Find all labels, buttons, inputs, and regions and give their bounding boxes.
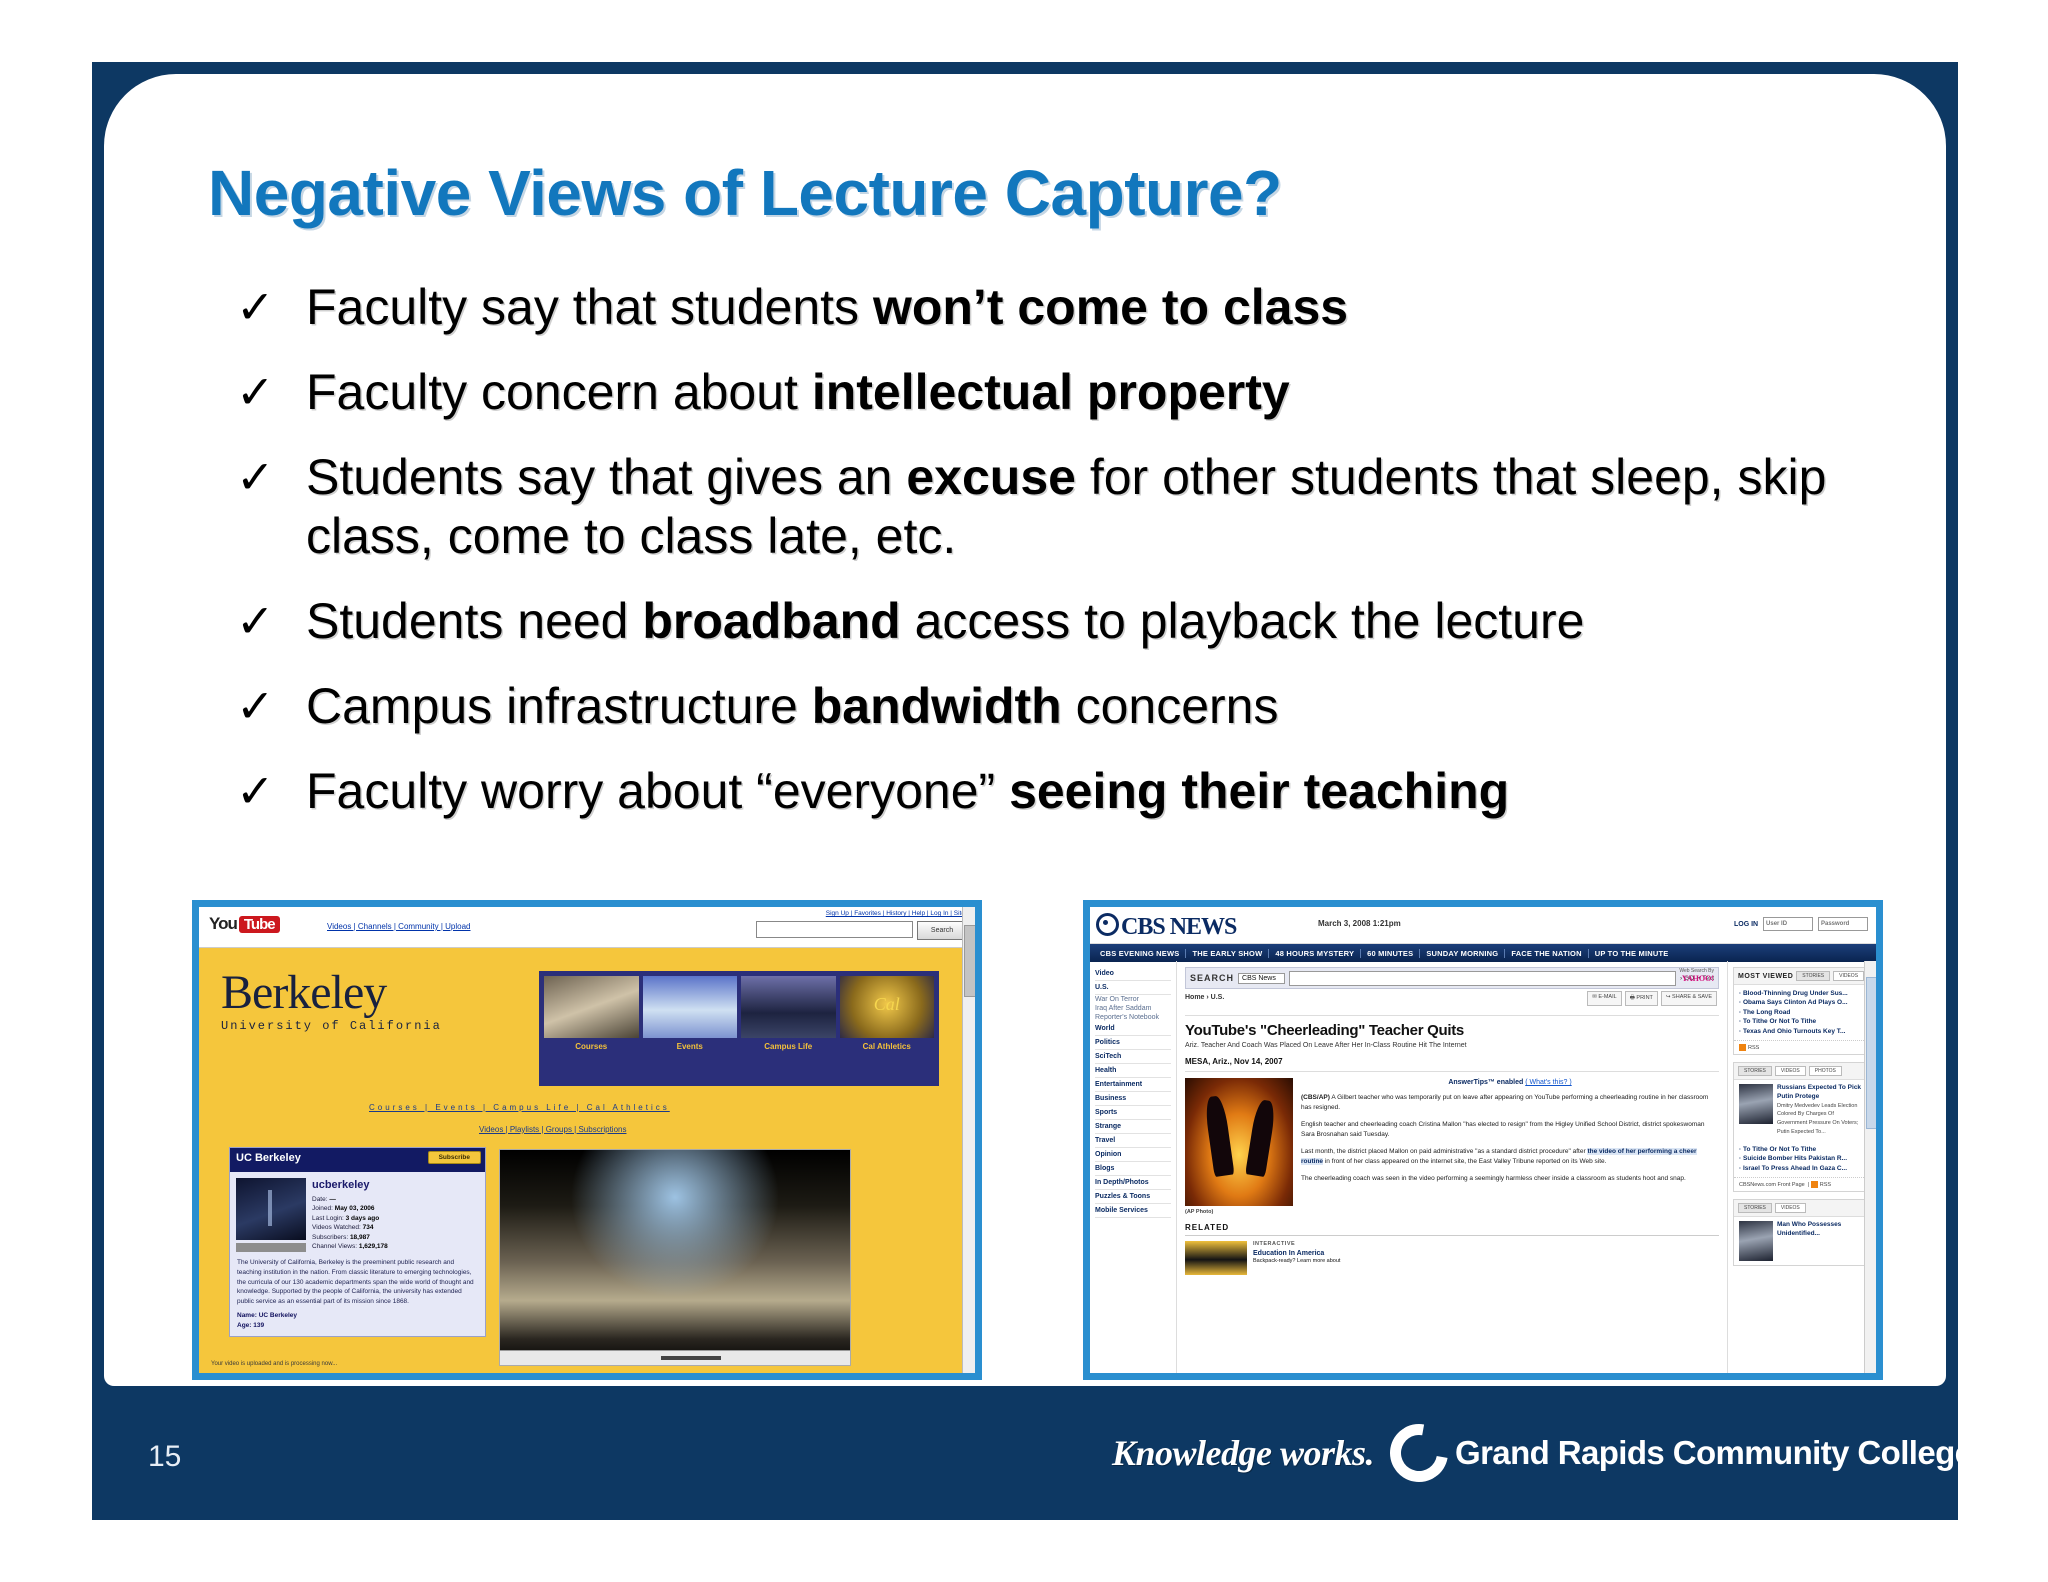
top-stories-list[interactable]: To Tithe Or Not To TitheSuicide Bomber H… (1734, 1141, 1870, 1177)
tile-campus-life-label: Campus Life (741, 1042, 836, 1051)
youtube-screenshot[interactable]: YouTube Videos | Channels | Community | … (192, 900, 982, 1380)
page-number: 15 (148, 1440, 181, 1474)
footer-institution: Grand Rapids Community College (1455, 1434, 1972, 1472)
berkeley-category-tiles: Courses Events Campus Life Cal Athletics (539, 971, 939, 1086)
cbs-sidebar[interactable]: VideoU.S.War On TerrorIraq After SaddamR… (1090, 961, 1176, 1373)
cbs-nav-item-6[interactable]: FACE THE NATION (1505, 949, 1588, 958)
front-page-link[interactable]: CBSNews.com Front Page (1739, 1182, 1805, 1188)
uc-stat-value: 18,987 (350, 1234, 370, 1241)
cbs-program-nav[interactable]: CBS EVENING NEWSTHE EARLY SHOW48 HOURS M… (1090, 944, 1876, 962)
related-thumbnail (1185, 1241, 1247, 1275)
youtube-search-input[interactable] (756, 921, 913, 938)
related-kicker: INTERACTIVE (1253, 1241, 1295, 1247)
berkeley-subtitle: University of California (221, 1019, 521, 1033)
bottom-story-text: Man Who Possesses Unidentified... (1777, 1221, 1865, 1261)
uc-channel-title: UC Berkeley (236, 1152, 301, 1164)
youtube-logo[interactable]: YouTube (209, 914, 280, 934)
youtube-nav-links[interactable]: Videos | Channels | Community | Upload (327, 922, 471, 931)
answertips-banner[interactable]: AnswerTips™ enabled ( What's this? ) (1301, 1078, 1719, 1089)
cbs-page: CBS NEWS March 3, 2008 1:21pm LOG IN Use… (1090, 907, 1876, 1373)
bullet-item-2: ✓Faculty concern about intellectual prop… (228, 363, 1928, 422)
cbs-sidebar-item-16[interactable]: Blogs (1095, 1162, 1171, 1176)
rss-icon-2 (1811, 1181, 1818, 1188)
bottom-tab-stories[interactable]: STORIES (1738, 1203, 1772, 1213)
most-viewed-module: MOST VIEWED STORIES VIDEOS Blood-Thinnin… (1733, 967, 1871, 1055)
cbs-search-powered-by: Web Search By YAHOO! (1679, 969, 1714, 983)
top-stories-lead-text: Russians Expected To Pick Putin Protege … (1777, 1084, 1865, 1137)
youtube-video-player[interactable] (499, 1149, 851, 1366)
cbs-sidebar-item-11[interactable]: Business (1095, 1092, 1171, 1106)
uc-channel-description: The University of California, Berkeley i… (230, 1258, 485, 1311)
cbs-sidebar-item-2[interactable]: U.S. (1095, 981, 1171, 995)
uc-channel-stats: ucberkeley Date: —Joined: May 03, 2006La… (312, 1178, 388, 1252)
most-viewed-item-5[interactable]: Texas And Ohio Turnouts Key T... (1739, 1027, 1865, 1036)
cbs-sidebar-item-5[interactable]: Reporter's Notebook (1095, 1013, 1171, 1022)
cbs-nav-item-1[interactable]: CBS EVENING NEWS (1094, 949, 1186, 958)
tile-cal-athletics[interactable]: Cal Athletics (840, 976, 935, 1081)
youtube-scrollbar-thumb[interactable] (964, 925, 975, 997)
most-viewed-item-4[interactable]: To Tithe Or Not To Tithe (1739, 1017, 1865, 1026)
cbs-sidebar-item-3[interactable]: War On Terror (1095, 995, 1171, 1004)
uc-stat-value: 734 (363, 1224, 374, 1231)
cbs-login-label: LOG IN (1734, 921, 1758, 928)
cbs-article-paragraph-1: (CBS/AP) A Gilbert teacher who was tempo… (1301, 1093, 1719, 1113)
top-stories-module: STORIES VIDEOS PHOTOS Russians Expected … (1733, 1062, 1871, 1192)
cbs-tool-1[interactable]: ✉ E-MAIL (1587, 991, 1621, 1006)
cbs-datetime: March 3, 2008 1:21pm (1318, 919, 1401, 928)
bullet-item-6: ✓Faculty worry about “everyone” seeing t… (228, 762, 1928, 821)
cbs-sidebar-item-4[interactable]: Iraq After Saddam (1095, 1004, 1171, 1013)
footer-tagline: Knowledge works. (1112, 1432, 1374, 1474)
youtube-account-links[interactable]: Sign Up | Favorites | History | Help | L… (826, 910, 965, 917)
top-stories-footer[interactable]: CBSNews.com Front Page | RSS (1734, 1177, 1870, 1191)
uc-stat-value: May 03, 2006 (335, 1205, 375, 1212)
cheerleader-photo (1185, 1078, 1293, 1206)
putin-photo (1739, 1084, 1773, 1124)
uc-avatar (236, 1178, 306, 1240)
most-viewed-list[interactable]: Blood-Thinning Drug Under Sus...Obama Sa… (1734, 985, 1870, 1040)
youtube-logo-you: You (209, 914, 237, 933)
cbs-userid-field[interactable]: User ID (1763, 917, 1813, 931)
youtube-scrollbar[interactable] (962, 907, 975, 1373)
berkeley-channel-tabs[interactable]: Videos | Playlists | Groups | Subscripti… (479, 1125, 626, 1134)
cbs-article-headline: YouTube's "Cheerleading" Teacher Quits (1185, 1022, 1719, 1039)
check-icon: ✓ (236, 365, 275, 419)
uc-rating-bar (236, 1243, 306, 1252)
most-viewed-tab-videos[interactable]: VIDEOS (1833, 971, 1864, 981)
cbs-photo-credit: (AP Photo) (1185, 1209, 1293, 1215)
uc-stat-row-6: Channel Views: 1,629,178 (312, 1242, 388, 1251)
cbs-share-tools[interactable]: ✉ E-MAIL🖶 PRINT↪ SHARE & SAVE (1587, 991, 1717, 1006)
top-stories-lead-headline[interactable]: Russians Expected To Pick Putin Protege (1777, 1084, 1865, 1102)
cbs-logo-text: CBS NEWS (1121, 914, 1236, 940)
cbs-sidebar-item-8[interactable]: SciTech (1095, 1050, 1171, 1064)
page-title: Negative Views of Lecture Capture? (208, 156, 1808, 230)
cbs-login-area[interactable]: LOG IN User ID Password (1734, 917, 1868, 931)
uc-channel-body: ucberkeley Date: —Joined: May 03, 2006La… (230, 1172, 485, 1258)
top-stories-tab-stories[interactable]: STORIES (1738, 1066, 1772, 1076)
rss-icon (1739, 1044, 1746, 1051)
cbs-sidebar-item-6[interactable]: World (1095, 1022, 1171, 1036)
bottom-module-story[interactable]: Man Who Possesses Unidentified... (1734, 1217, 1870, 1265)
cbs-related-heading: RELATED (1185, 1223, 1719, 1236)
cbs-sidebar-item-12[interactable]: Sports (1095, 1106, 1171, 1120)
tile-courses[interactable]: Courses (544, 976, 639, 1081)
bottom-story-photo (1739, 1221, 1773, 1261)
tile-events-label: Events (643, 1042, 738, 1051)
cbs-logo[interactable]: CBS NEWS (1096, 911, 1236, 941)
berkeley-brand: Berkeley University of California (221, 969, 521, 1033)
bottom-module: STORIES VIDEOS Man Who Possesses Unident… (1733, 1199, 1871, 1266)
cbs-scrollbar-thumb[interactable] (1866, 977, 1876, 1129)
youtube-search-button[interactable]: Search (917, 921, 967, 940)
uc-channel-meta: Name: UC Berkeley Age: 139 (230, 1311, 485, 1337)
bullet-item-3: ✓Students say that gives an excuse for o… (228, 448, 1928, 566)
tile-cal-athletics-label: Cal Athletics (840, 1042, 935, 1051)
youtube-status-ticker: Your video is uploaded and is processing… (211, 1361, 337, 1367)
tile-courses-image (544, 976, 639, 1038)
cbs-nav-item-2[interactable]: THE EARLY SHOW (1186, 949, 1269, 958)
cbs-nav-item-3[interactable]: 48 HOURS MYSTERY (1269, 949, 1361, 958)
uc-meta-age-label: Age: (237, 1322, 251, 1329)
cbs-sidebar-item-7[interactable]: Politics (1095, 1036, 1171, 1050)
most-viewed-title: MOST VIEWED (1738, 973, 1793, 980)
cbs-sidebar-item-1[interactable]: Video (1095, 967, 1171, 981)
cbs-password-field[interactable]: Password (1818, 917, 1868, 931)
top-stories-lead[interactable]: Russians Expected To Pick Putin Protege … (1734, 1080, 1870, 1141)
most-viewed-item-3[interactable]: The Long Road (1739, 1008, 1865, 1017)
bullet-item-5: ✓Campus infrastructure bandwidth concern… (228, 677, 1928, 736)
uc-stat-value: — (329, 1196, 336, 1203)
cbs-article-text: AnswerTips™ enabled ( What's this? ) (CB… (1301, 1078, 1719, 1215)
cbs-right-rail: MOST VIEWED STORIES VIDEOS Blood-Thinnin… (1728, 961, 1876, 1373)
uc-berkeley-channel-panel: UC Berkeley Subscribe ucberkeley Date: —… (229, 1147, 486, 1337)
most-viewed-item-2[interactable]: Obama Says Clinton Ad Plays O... (1739, 998, 1865, 1007)
tile-cal-athletics-image (840, 976, 935, 1038)
cbs-scrollbar[interactable] (1864, 961, 1876, 1373)
berkeley-subnav[interactable]: Courses | Events | Campus Life | Cal Ath… (369, 1103, 670, 1112)
cbs-article-photo-block: (AP Photo) (1185, 1078, 1293, 1215)
most-viewed-rss[interactable]: RSS (1734, 1040, 1870, 1054)
uc-stat-label: Date: (312, 1196, 328, 1203)
slide-root: Negative Views of Lecture Capture? ✓Facu… (0, 0, 2048, 1582)
bullet-item-1: ✓Faculty say that students won’t come to… (228, 278, 1928, 337)
cbs-article-paragraph-2: English teacher and cheerleading coach C… (1301, 1120, 1719, 1140)
top-stories-rss-label: RSS (1820, 1182, 1831, 1188)
cbs-sidebar-item-15[interactable]: Opinion (1095, 1148, 1171, 1162)
check-icon: ✓ (236, 450, 275, 504)
check-icon: ✓ (236, 764, 275, 818)
most-viewed-header: MOST VIEWED STORIES VIDEOS (1734, 968, 1870, 985)
cbs-article-paragraph-4: The cheerleading coach was seen in the v… (1301, 1174, 1719, 1184)
berkeley-wordmark: Berkeley (221, 969, 521, 1017)
uc-stat-row-1: Date: — (312, 1195, 388, 1204)
cbs-article-paragraph-3: Last month, the district placed Mallon o… (1301, 1147, 1719, 1167)
cbs-header: CBS NEWS March 3, 2008 1:21pm LOG IN Use… (1090, 907, 1876, 944)
cbs-search-input[interactable] (1289, 971, 1676, 986)
cbs-main-column: SEARCH CBS News › GO • Text Web Search B… (1176, 961, 1728, 1373)
uc-stat-row-2: Joined: May 03, 2006 (312, 1204, 388, 1213)
uc-stat-label: Channel Views: (312, 1243, 357, 1250)
top-stories-item-1[interactable]: To Tithe Or Not To Tithe (1739, 1145, 1865, 1154)
check-icon: ✓ (236, 594, 275, 648)
youtube-page: YouTube Videos | Channels | Community | … (199, 907, 975, 1373)
most-viewed-tab-stories[interactable]: STORIES (1796, 971, 1830, 981)
cbs-search-bar[interactable]: SEARCH CBS News › GO • Text Web Search B… (1185, 967, 1719, 989)
uc-stat-label: Videos Watched: (312, 1224, 361, 1231)
cbs-divider (1185, 1015, 1719, 1016)
uc-meta-age-value: 139 (253, 1322, 264, 1329)
top-stories-tab-videos[interactable]: VIDEOS (1775, 1066, 1806, 1076)
cbs-eye-icon (1096, 913, 1119, 936)
tile-campus-life-image (741, 976, 836, 1038)
uc-stat-label: Joined: (312, 1205, 333, 1212)
uc-username: ucberkeley (312, 1178, 388, 1194)
related-text: INTERACTIVE Education In America Backpac… (1253, 1241, 1340, 1275)
cbs-sidebar-item-18[interactable]: Puzzles & Toons (1095, 1190, 1171, 1204)
subscribe-button[interactable]: Subscribe (428, 1151, 481, 1164)
cbs-nav-item-7[interactable]: UP TO THE MINUTE (1589, 949, 1675, 958)
youtube-logo-tube: Tube (239, 916, 280, 933)
cbs-related-item[interactable]: INTERACTIVE Education In America Backpac… (1185, 1241, 1719, 1275)
cbs-tool-2[interactable]: 🖶 PRINT (1625, 991, 1658, 1006)
cbs-article-block: (AP Photo) AnswerTips™ enabled ( What's … (1185, 1078, 1719, 1215)
top-stories-item-2[interactable]: Suicide Bomber Hits Pakistan R... (1739, 1154, 1865, 1163)
uc-stat-row-3: Last Login: 3 days ago (312, 1214, 388, 1223)
cbs-sidebar-item-19[interactable]: Mobile Services (1095, 1204, 1171, 1218)
uc-avatar-block (236, 1178, 306, 1252)
top-stories-item-3[interactable]: Israel To Press Ahead In Gaza C... (1739, 1164, 1865, 1173)
uc-channel-header: UC Berkeley Subscribe (230, 1148, 485, 1172)
top-stories-header: STORIES VIDEOS PHOTOS (1734, 1063, 1870, 1080)
cbs-body: VideoU.S.War On TerrorIraq After SaddamR… (1090, 961, 1876, 1373)
check-icon: ✓ (236, 280, 275, 334)
cbs-news-screenshot[interactable]: CBS NEWS March 3, 2008 1:21pm LOG IN Use… (1083, 900, 1883, 1380)
cbs-nav-item-5[interactable]: SUNDAY MORNING (1420, 949, 1505, 958)
cbs-search-scope-select[interactable]: CBS News (1238, 973, 1285, 984)
video-frame (500, 1150, 850, 1365)
cbs-search-label: SEARCH (1190, 973, 1234, 983)
most-viewed-item-1[interactable]: Blood-Thinning Drug Under Sus... (1739, 989, 1865, 998)
uc-stat-value: 1,629,178 (359, 1243, 388, 1250)
youtube-header: YouTube Videos | Channels | Community | … (199, 907, 975, 948)
yahoo-logo: YAHOO! (1679, 975, 1714, 984)
bottom-tab-videos[interactable]: VIDEOS (1775, 1203, 1806, 1213)
video-controls-bar[interactable] (500, 1350, 850, 1365)
cbs-article-subhead: Ariz. Teacher And Coach Was Placed On Le… (1185, 1042, 1719, 1049)
uc-stat-label: Last Login: (312, 1215, 344, 1222)
top-stories-lead-desc: Dmitry Medvedev Leads Election Colored B… (1777, 1103, 1858, 1135)
answertips-label: AnswerTips™ enabled (1448, 1079, 1523, 1086)
top-stories-tab-photos[interactable]: PHOTOS (1809, 1066, 1842, 1076)
uc-stat-label: Subscribers: (312, 1234, 348, 1241)
uc-stat-row-4: Videos Watched: 734 (312, 1223, 388, 1232)
cbs-article-dateline: MESA, Ariz., Nov 14, 2007 (1185, 1057, 1719, 1072)
uc-meta-name-value: UC Berkeley (259, 1312, 297, 1319)
bullet-item-4: ✓Students need broadband access to playb… (228, 592, 1928, 651)
tile-courses-label: Courses (544, 1042, 639, 1051)
cbs-sidebar-item-10[interactable]: Entertainment (1095, 1078, 1171, 1092)
check-icon: ✓ (236, 679, 275, 733)
related-description: Backpack-ready? Learn more about (1253, 1258, 1340, 1264)
uc-stat-row-5: Subscribers: 18,987 (312, 1233, 388, 1242)
most-viewed-rss-label: RSS (1748, 1045, 1759, 1051)
answertips-help-link[interactable]: ( What's this? ) (1525, 1079, 1571, 1086)
tile-campus-life[interactable]: Campus Life (741, 976, 836, 1081)
cbs-sidebar-item-13[interactable]: Strange (1095, 1120, 1171, 1134)
cbs-nav-item-4[interactable]: 60 MINUTES (1361, 949, 1420, 958)
cbs-sidebar-item-14[interactable]: Travel (1095, 1134, 1171, 1148)
cbs-tool-3[interactable]: ↪ SHARE & SAVE (1661, 991, 1717, 1006)
related-headline[interactable]: Education In America (1253, 1249, 1340, 1259)
uc-stat-value: 3 days ago (346, 1215, 380, 1222)
tile-events-image (643, 976, 738, 1038)
cbs-sidebar-item-17[interactable]: In Depth/Photos (1095, 1176, 1171, 1190)
bullet-list: ✓Faculty say that students won’t come to… (228, 278, 1928, 847)
tile-events[interactable]: Events (643, 976, 738, 1081)
uc-meta-name-label: Name: (237, 1312, 257, 1319)
bottom-module-header: STORIES VIDEOS (1734, 1200, 1870, 1217)
cbs-sidebar-item-9[interactable]: Health (1095, 1064, 1171, 1078)
bottom-story-headline[interactable]: Man Who Possesses Unidentified... (1777, 1221, 1865, 1239)
